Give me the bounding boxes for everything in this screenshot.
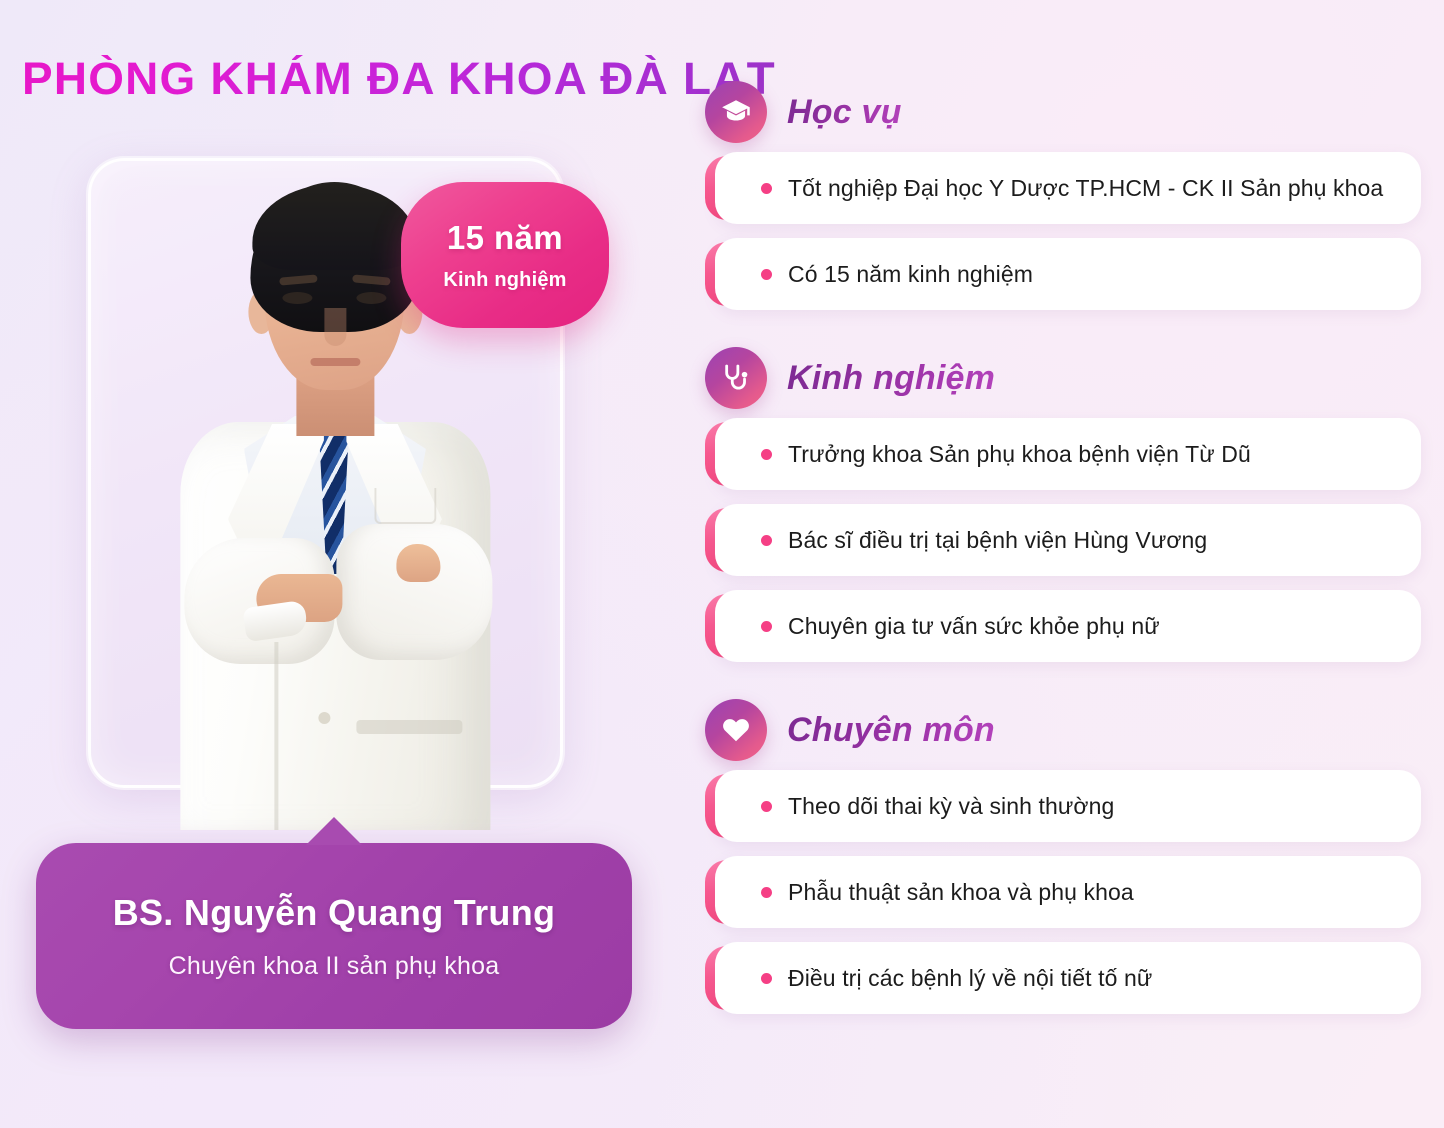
item-text: Điều trị các bệnh lý về nội tiết tố nữ — [788, 961, 1152, 996]
stethoscope-icon — [705, 347, 767, 409]
section-header-chuyen-mon: Chuyên môn — [705, 690, 1421, 770]
item-card: Điều trị các bệnh lý về nội tiết tố nữ — [715, 942, 1421, 1014]
list-item: Có 15 năm kinh nghiệm — [715, 238, 1421, 310]
section-header-hoc-vu: Học vụ — [705, 72, 1421, 152]
section-title: Học vụ — [787, 93, 902, 132]
list-item: Trưởng khoa Sản phụ khoa bệnh viện Từ Dũ — [715, 418, 1421, 490]
item-text: Bác sĩ điều trị tại bệnh viện Hùng Vương — [788, 523, 1207, 558]
section-hoc-vu: Học vụ Tốt nghiệp Đại học Y Dược TP.HCM … — [705, 72, 1421, 310]
item-text: Có 15 năm kinh nghiệm — [788, 257, 1033, 292]
list-item: Tốt nghiệp Đại học Y Dược TP.HCM - CK II… — [715, 152, 1421, 224]
bullet-icon — [761, 535, 772, 546]
item-text: Tốt nghiệp Đại học Y Dược TP.HCM - CK II… — [788, 171, 1383, 206]
poster-root: PHÒNG KHÁM ĐA KHOA ĐÀ LẠT — [0, 0, 1444, 1128]
list-item: Chuyên gia tư vấn sức khỏe phụ nữ — [715, 590, 1421, 662]
credentials-panel: Học vụ Tốt nghiệp Đại học Y Dược TP.HCM … — [705, 72, 1421, 1020]
bullet-icon — [761, 269, 772, 280]
item-card: Bác sĩ điều trị tại bệnh viện Hùng Vương — [715, 504, 1421, 576]
item-list-chuyen-mon: Theo dõi thai kỳ và sinh thường Phẫu thu… — [705, 770, 1421, 1014]
item-card: Có 15 năm kinh nghiệm — [715, 238, 1421, 310]
item-text: Chuyên gia tư vấn sức khỏe phụ nữ — [788, 609, 1160, 644]
page-title: PHÒNG KHÁM ĐA KHOA ĐÀ LẠT — [22, 55, 776, 102]
item-text: Trưởng khoa Sản phụ khoa bệnh viện Từ Dũ — [788, 437, 1251, 472]
experience-years-badge: 15 năm Kinh nghiệm — [401, 182, 609, 328]
bullet-icon — [761, 973, 772, 984]
section-title: Kinh nghiệm — [787, 359, 995, 398]
item-card: Phẫu thuật sản khoa và phụ khoa — [715, 856, 1421, 928]
bullet-icon — [761, 801, 772, 812]
bullet-icon — [761, 449, 772, 460]
section-title: Chuyên môn — [787, 711, 995, 750]
list-item: Phẫu thuật sản khoa và phụ khoa — [715, 856, 1421, 928]
section-header-kinh-nghiem: Kinh nghiệm — [705, 338, 1421, 418]
bullet-icon — [761, 183, 772, 194]
doctor-name: BS. Nguyễn Quang Trung — [113, 892, 556, 934]
list-item: Điều trị các bệnh lý về nội tiết tố nữ — [715, 942, 1421, 1014]
list-item: Theo dõi thai kỳ và sinh thường — [715, 770, 1421, 842]
item-list-kinh-nghiem: Trưởng khoa Sản phụ khoa bệnh viện Từ Dũ… — [705, 418, 1421, 662]
doctor-specialty: Chuyên khoa II sản phụ khoa — [169, 952, 500, 981]
section-chuyen-mon: Chuyên môn Theo dõi thai kỳ và sinh thườ… — [705, 690, 1421, 1014]
bullet-icon — [761, 887, 772, 898]
item-card: Chuyên gia tư vấn sức khỏe phụ nữ — [715, 590, 1421, 662]
item-card: Theo dõi thai kỳ và sinh thường — [715, 770, 1421, 842]
list-item: Bác sĩ điều trị tại bệnh viện Hùng Vương — [715, 504, 1421, 576]
bullet-icon — [761, 621, 772, 632]
graduation-cap-icon — [705, 81, 767, 143]
item-card: Tốt nghiệp Đại học Y Dược TP.HCM - CK II… — [715, 152, 1421, 224]
item-card: Trưởng khoa Sản phụ khoa bệnh viện Từ Dũ — [715, 418, 1421, 490]
section-kinh-nghiem: Kinh nghiệm Trưởng khoa Sản phụ khoa bện… — [705, 338, 1421, 662]
item-text: Theo dõi thai kỳ và sinh thường — [788, 789, 1114, 824]
item-list-hoc-vu: Tốt nghiệp Đại học Y Dược TP.HCM - CK II… — [705, 152, 1421, 310]
item-text: Phẫu thuật sản khoa và phụ khoa — [788, 875, 1134, 910]
heart-icon — [705, 699, 767, 761]
experience-years-value: 15 năm — [447, 219, 563, 257]
doctor-name-card: BS. Nguyễn Quang Trung Chuyên khoa II sả… — [36, 843, 632, 1029]
experience-years-label: Kinh nghiệm — [443, 269, 566, 292]
